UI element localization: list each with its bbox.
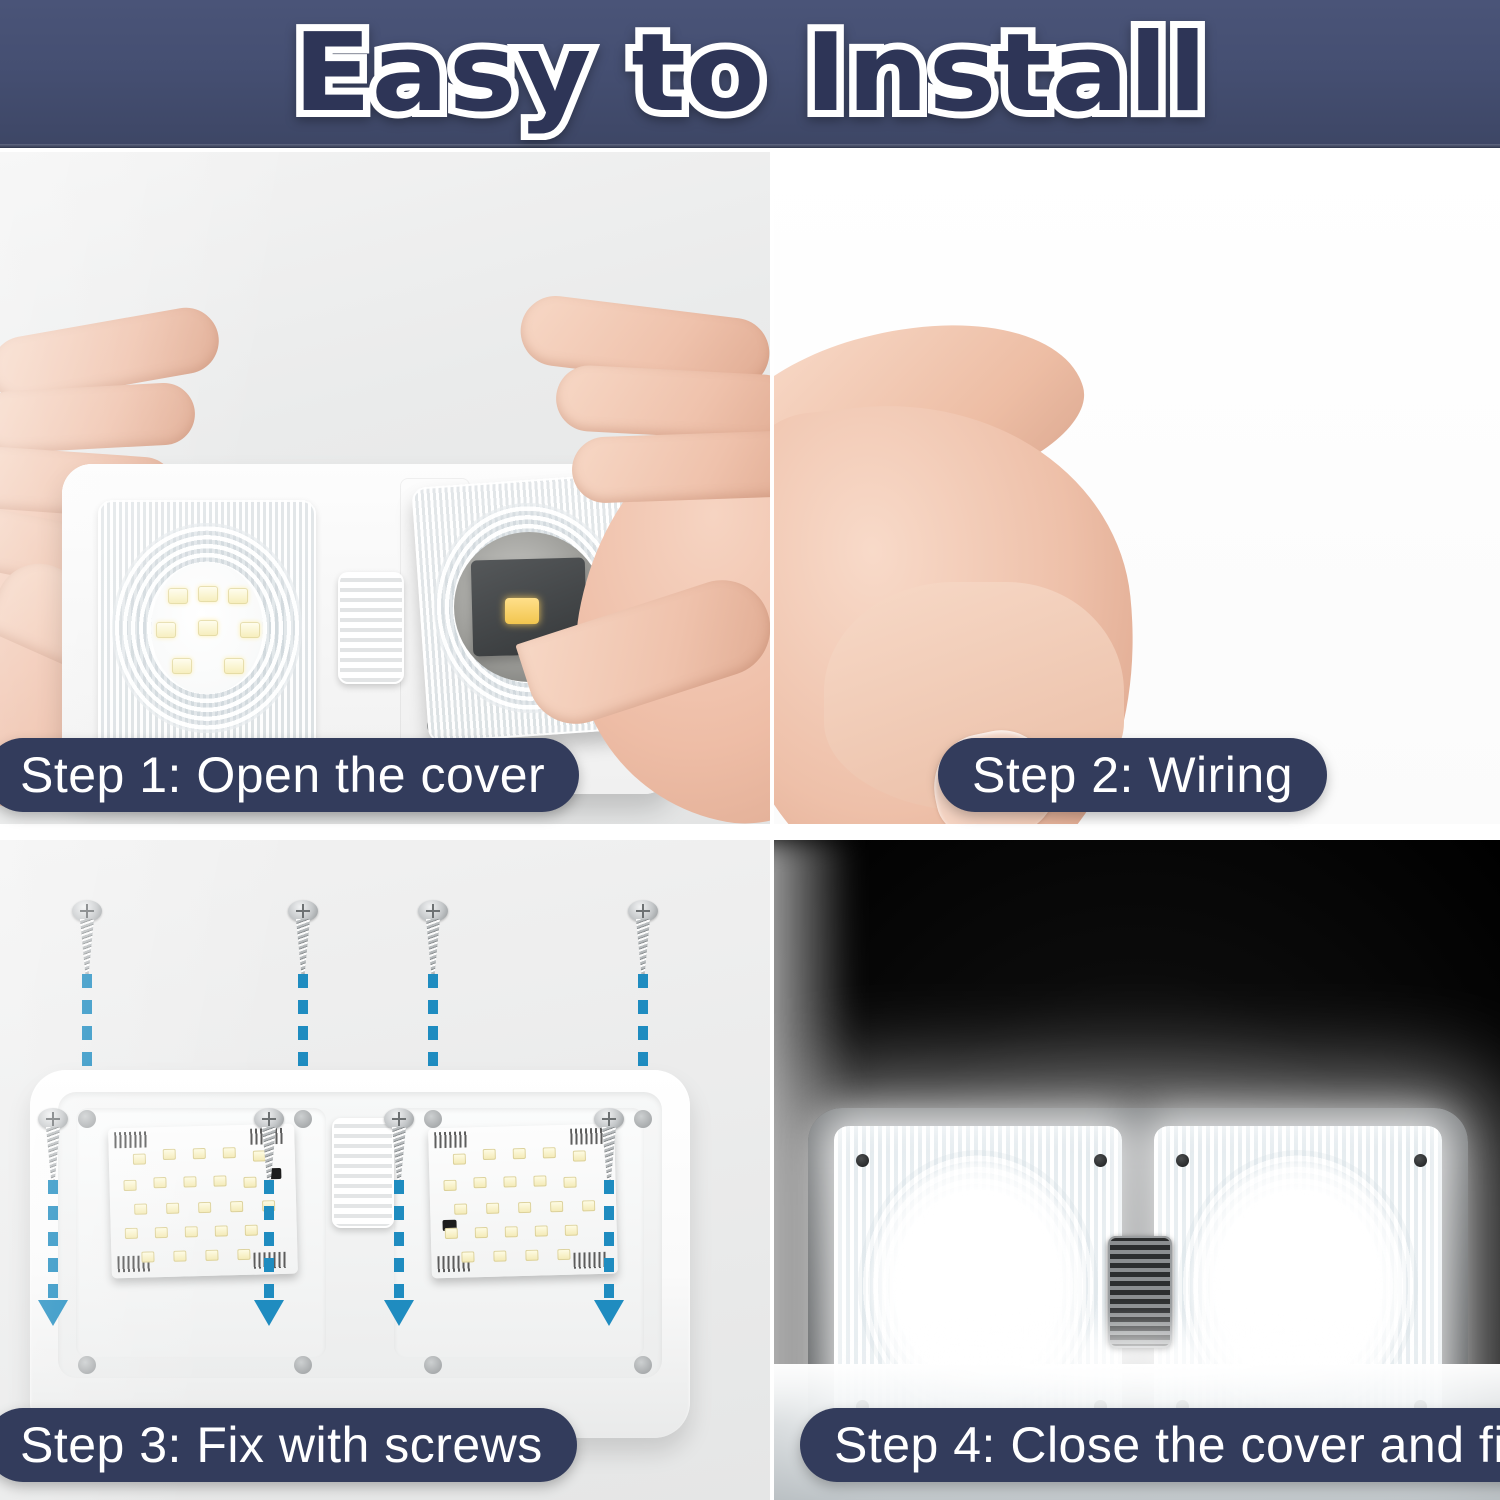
dashed-arrow-down (48, 1180, 58, 1302)
led-chip (245, 1225, 258, 1236)
led-chip (228, 588, 248, 604)
led-chip (473, 1177, 486, 1188)
screw-head (1176, 1154, 1189, 1167)
dashed-arrow-down (394, 1180, 404, 1302)
led-chip (123, 1180, 136, 1191)
led-chip (156, 622, 176, 638)
led-chip (230, 1201, 243, 1212)
pcb-marking (114, 1131, 148, 1148)
screw-head (628, 900, 658, 922)
screw-head (288, 900, 318, 922)
led-chip (573, 1150, 586, 1161)
led-chip (518, 1202, 531, 1213)
led-chip (454, 1203, 467, 1214)
pcb-marking (434, 1131, 468, 1148)
led-chip (525, 1250, 538, 1261)
led-chip (224, 658, 244, 674)
right-hand-finger (554, 364, 770, 442)
screw (598, 1108, 620, 1182)
screw-head (72, 900, 102, 922)
step-1-panel (0, 152, 770, 824)
header-title-wrap: Easy to Install (0, 0, 1500, 148)
led-chip (543, 1147, 556, 1158)
screw (76, 900, 98, 974)
led-chip (243, 1177, 256, 1188)
screw (632, 900, 654, 974)
led-chip (533, 1175, 546, 1186)
screw-shaft (80, 919, 94, 974)
screw-shaft (46, 1127, 60, 1182)
led-chip (215, 1225, 228, 1236)
led-chip (198, 1202, 211, 1213)
mounting-hole (424, 1356, 442, 1374)
rocker-switch[interactable] (332, 1118, 394, 1228)
led-chip (223, 1147, 236, 1158)
screw (292, 900, 314, 974)
screw (388, 1108, 410, 1182)
screw-head (384, 1108, 414, 1130)
led-chip (141, 1251, 154, 1262)
step-2-label: Step 2: Wiring (938, 738, 1327, 812)
led-chip (443, 1180, 456, 1191)
screw-head (254, 1108, 284, 1130)
led-chip (483, 1149, 496, 1160)
led-chip (237, 1249, 250, 1260)
screw-head (1094, 1154, 1107, 1167)
led-chip (493, 1250, 506, 1261)
screw-shaft (262, 1127, 276, 1182)
led-circuit-board (428, 1124, 618, 1279)
step-3-panel (0, 840, 770, 1500)
left-lens-cover (98, 500, 316, 756)
step-2-panel (774, 152, 1500, 824)
mounting-hole (424, 1110, 442, 1128)
led-chip (163, 1149, 176, 1160)
screw (42, 1108, 64, 1182)
screw (258, 1108, 280, 1182)
screw-head (418, 900, 448, 922)
led-chip (535, 1225, 548, 1236)
page-title: Easy to Install (293, 20, 1207, 128)
infographic-page: Easy to Install (0, 0, 1500, 1500)
led-chip (134, 1203, 147, 1214)
led-chip (503, 1176, 516, 1187)
step-1-label: Step 1: Open the cover (0, 738, 579, 812)
led-chip (193, 1148, 206, 1159)
led-chip (155, 1227, 168, 1238)
header-banner: Easy to Install (0, 0, 1500, 148)
led-chip (198, 586, 218, 602)
led-chip (153, 1177, 166, 1188)
led-chip (565, 1225, 578, 1236)
mounting-hole (78, 1110, 96, 1128)
led-chip (172, 658, 192, 674)
mounting-hole (294, 1110, 312, 1128)
dashed-arrow-down (604, 1180, 614, 1302)
led-chip (582, 1200, 595, 1211)
led-chip (205, 1250, 218, 1261)
mounting-hole (78, 1356, 96, 1374)
mounting-hole (634, 1356, 652, 1374)
step-4-panel (774, 840, 1500, 1500)
screw-shaft (602, 1127, 616, 1182)
led-chip (475, 1227, 488, 1238)
screw-head (856, 1154, 869, 1167)
led-chip (505, 1226, 518, 1237)
led-chip (486, 1203, 499, 1214)
screw-head (38, 1108, 68, 1130)
led-chip (166, 1203, 179, 1214)
left-hand-finger (0, 381, 196, 454)
pcb-marking (573, 1252, 607, 1269)
right-hand-finger (571, 430, 770, 504)
led-chip (557, 1249, 570, 1260)
mounting-hole (634, 1110, 652, 1128)
led-chip (505, 598, 539, 624)
led-chip (168, 588, 188, 604)
screw-shaft (636, 919, 650, 974)
led-chip (185, 1226, 198, 1237)
led-chip (453, 1153, 466, 1164)
step-3-label: Step 3: Fix with screws (0, 1408, 577, 1482)
led-chip (563, 1177, 576, 1188)
led-chip (513, 1148, 526, 1159)
step-4-label: Step 4: Close the cover and finish (800, 1408, 1500, 1482)
screw (422, 900, 444, 974)
led-chip (445, 1228, 458, 1239)
screw-shaft (296, 919, 310, 974)
led-chip (133, 1153, 146, 1164)
screw-shaft (426, 919, 440, 974)
mounting-hole (294, 1356, 312, 1374)
led-chip (183, 1176, 196, 1187)
led-chip (213, 1175, 226, 1186)
led-chip (198, 620, 218, 636)
screw-shaft (392, 1127, 406, 1182)
led-chip (173, 1250, 186, 1261)
dashed-arrow-down (264, 1180, 274, 1302)
led-chip (125, 1228, 138, 1239)
rocker-switch[interactable] (338, 572, 404, 684)
led-chip (461, 1251, 474, 1262)
screw-head (594, 1108, 624, 1130)
led-chip (240, 622, 260, 638)
led-chip (550, 1201, 563, 1212)
screw-head (1414, 1154, 1427, 1167)
